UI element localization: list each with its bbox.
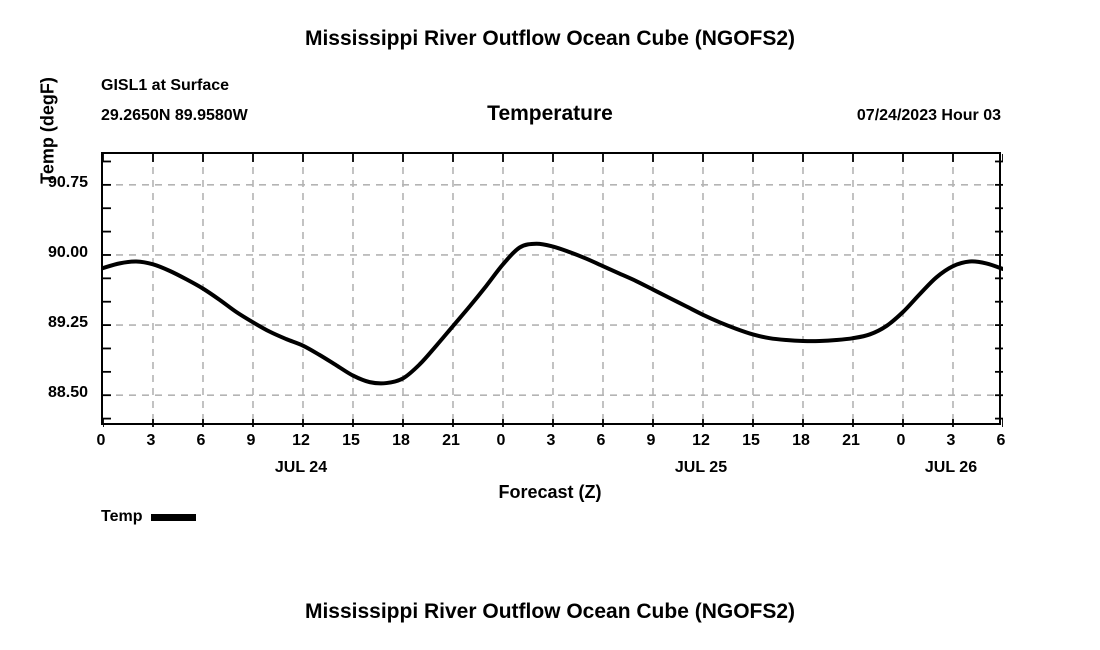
x-axis-tick-label: 0 <box>881 433 921 449</box>
x-axis-tick-label: 6 <box>581 433 621 449</box>
x-axis-tick-label: 9 <box>231 433 271 449</box>
x-axis-tick-label: 18 <box>781 433 821 449</box>
x-axis-tick-label: 21 <box>831 433 871 449</box>
x-axis-day-label: JUL 25 <box>621 460 781 476</box>
y-axis-tick-label: 90.75 <box>0 175 88 191</box>
x-axis-tick-label: 12 <box>681 433 721 449</box>
y-axis-tick-label: 89.25 <box>0 315 88 331</box>
x-axis-day-label: JUL 24 <box>221 460 381 476</box>
y-axis-title: Temp (degF) <box>38 21 59 241</box>
x-axis-day-label: JUL 26 <box>871 460 1031 476</box>
forecast-cycle-stamp: 07/24/2023 Hour 03 <box>857 107 1001 125</box>
x-axis-tick-label: 3 <box>931 433 971 449</box>
x-axis-title: Forecast (Z) <box>0 482 1100 503</box>
x-axis-tick-label: 3 <box>531 433 571 449</box>
x-axis-tick-label: 21 <box>431 433 471 449</box>
temperature-line-chart <box>103 154 1003 427</box>
x-axis-tick-label: 6 <box>181 433 221 449</box>
station-name: GISL1 at Surface <box>101 77 229 95</box>
x-axis-tick-label: 9 <box>631 433 671 449</box>
x-axis-tick-label: 6 <box>981 433 1021 449</box>
page-title-top: Mississippi River Outflow Ocean Cube (NG… <box>0 27 1100 51</box>
legend-swatch-temp <box>151 514 196 521</box>
x-axis-tick-label: 0 <box>481 433 521 449</box>
x-axis-tick-label: 15 <box>331 433 371 449</box>
y-axis-tick-label: 90.00 <box>0 245 88 261</box>
y-axis-tick-label: 88.50 <box>0 385 88 401</box>
legend-label-temp: Temp <box>101 509 142 525</box>
x-axis-tick-label: 12 <box>281 433 321 449</box>
x-axis-tick-label: 15 <box>731 433 771 449</box>
page-title-bottom: Mississippi River Outflow Ocean Cube (NG… <box>0 600 1100 624</box>
x-axis-tick-label: 18 <box>381 433 421 449</box>
chart-plot-area <box>101 152 1001 425</box>
chart-legend: Temp <box>101 509 196 525</box>
x-axis-tick-label: 0 <box>81 433 121 449</box>
vertical-gridlines <box>153 154 953 427</box>
x-axis-tick-label: 3 <box>131 433 171 449</box>
